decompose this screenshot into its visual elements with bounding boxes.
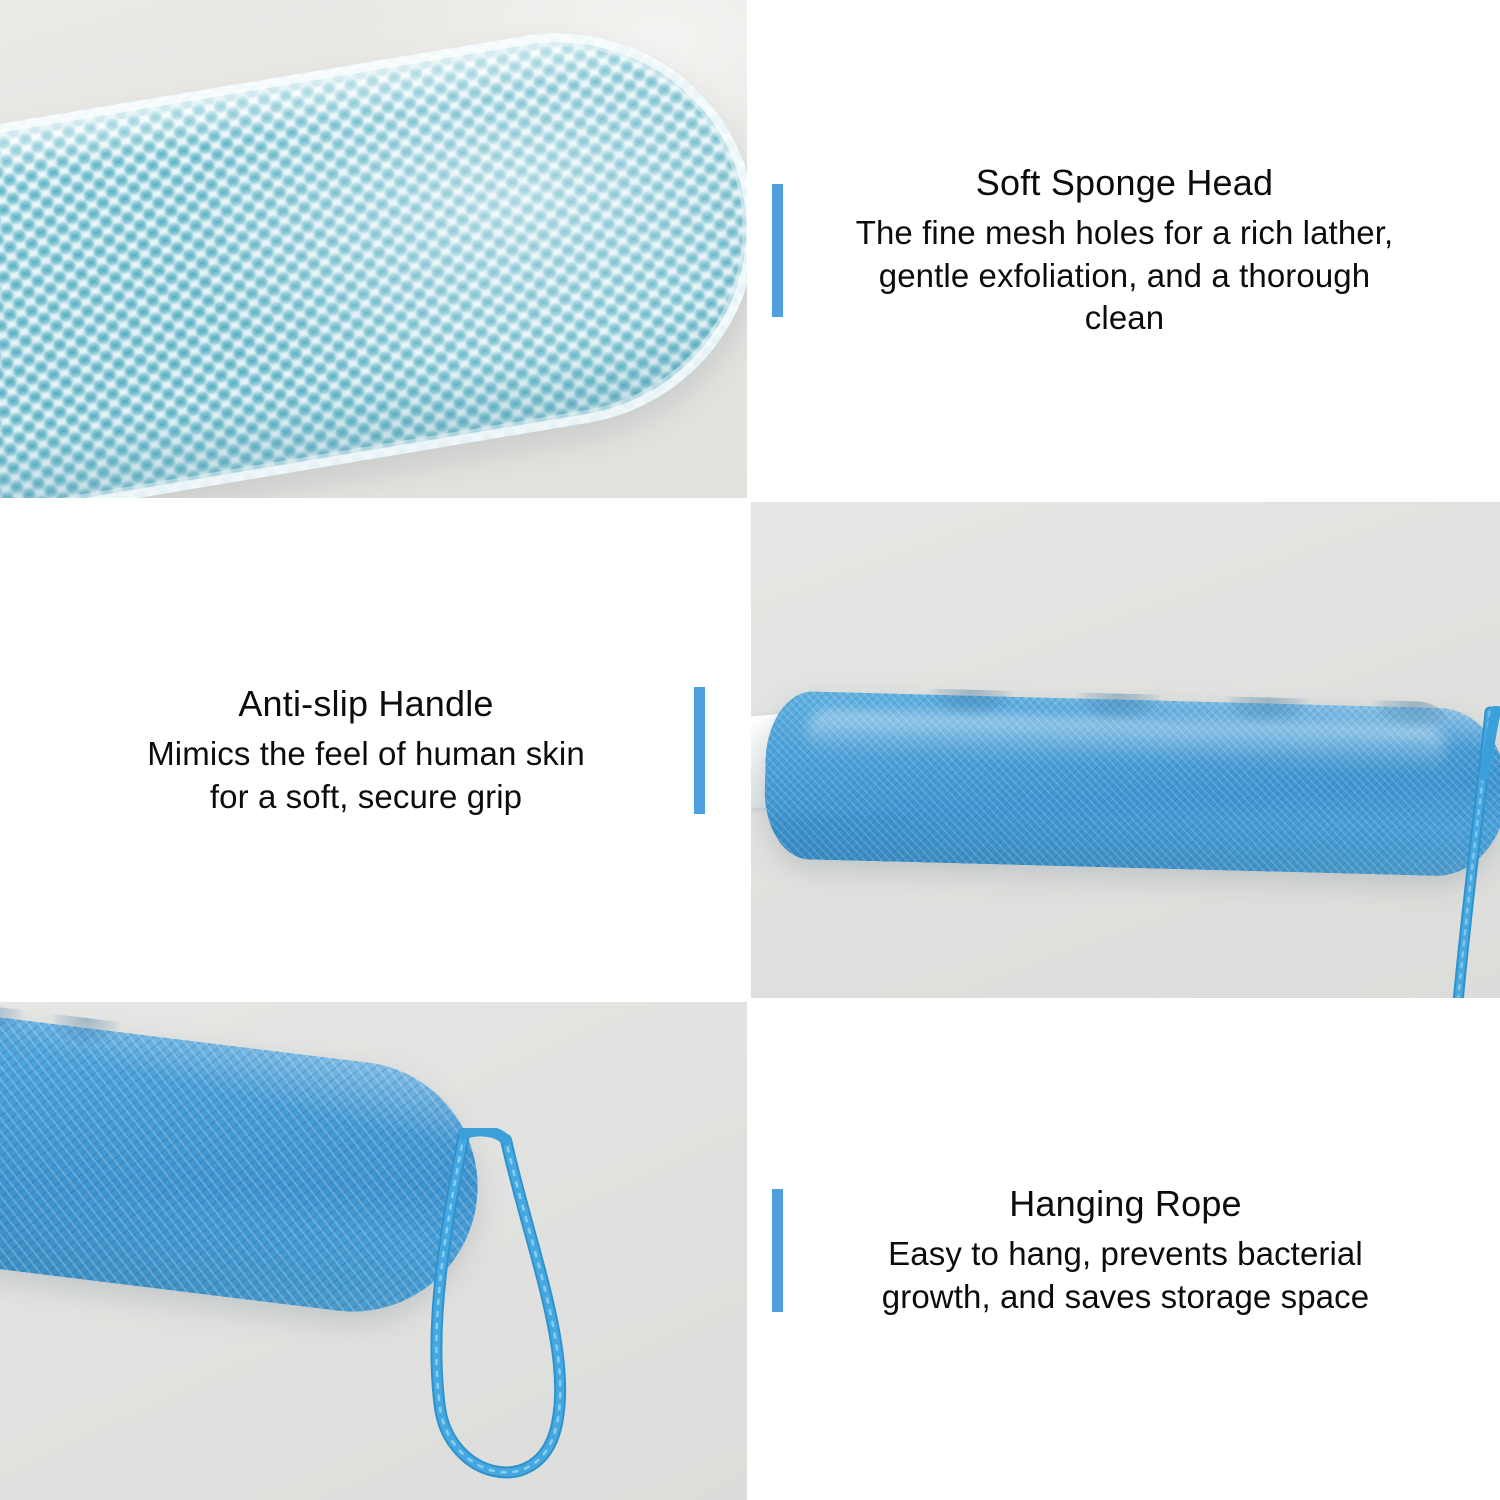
feature-text-soft-sponge-head: Soft Sponge Head The fine mesh holes for…: [747, 0, 1500, 500]
feature-description-line: Mimics the feel of human skin: [48, 733, 684, 776]
feature-text-body: Anti-slip Handle Mimics the feel of huma…: [0, 681, 694, 819]
feature-text-anti-slip-handle: Anti-slip Handle Mimics the feel of huma…: [0, 500, 747, 1000]
hanging-rope-loop: [398, 1128, 648, 1500]
horizontal-divider: [0, 998, 1500, 1002]
feature-text-body: Soft Sponge Head The fine mesh holes for…: [783, 160, 1500, 341]
feature-title: Hanging Rope: [809, 1181, 1442, 1227]
feature-description-line: growth, and saves storage space: [809, 1276, 1442, 1319]
feature-title: Soft Sponge Head: [809, 160, 1440, 206]
feature-description-line: clean: [809, 297, 1440, 340]
feature-description-line: Easy to hang, prevents bacterial: [809, 1233, 1442, 1276]
feature-description-line: The fine mesh holes for a rich lather,: [809, 212, 1440, 255]
horizontal-divider: [0, 498, 1500, 502]
handle-photo: [747, 500, 1500, 1000]
vertical-divider: [747, 0, 751, 1500]
infographic-board: Soft Sponge Head The fine mesh holes for…: [0, 0, 1500, 1500]
feature-description-line: for a soft, secure grip: [48, 776, 684, 819]
handle-grip-shape: [763, 690, 1500, 877]
feature-text-hanging-rope: Hanging Rope Easy to hang, prevents bact…: [747, 1000, 1500, 1500]
feature-description: Easy to hang, prevents bacterial growth,…: [809, 1233, 1442, 1319]
feature-description: Mimics the feel of human skin for a soft…: [48, 733, 684, 819]
hanging-rope-strand: [1392, 706, 1500, 1000]
accent-bar-icon: [694, 687, 705, 814]
accent-bar-icon: [772, 1189, 783, 1312]
accent-bar-icon: [772, 184, 783, 317]
feature-text-body: Hanging Rope Easy to hang, prevents bact…: [783, 1181, 1500, 1319]
feature-description-line: gentle exfoliation, and a thorough: [809, 255, 1440, 298]
feature-description: The fine mesh holes for a rich lather, g…: [809, 212, 1440, 341]
sponge-head-photo: [0, 0, 747, 500]
feature-title: Anti-slip Handle: [48, 681, 684, 727]
rope-loop-photo: [0, 1000, 747, 1500]
